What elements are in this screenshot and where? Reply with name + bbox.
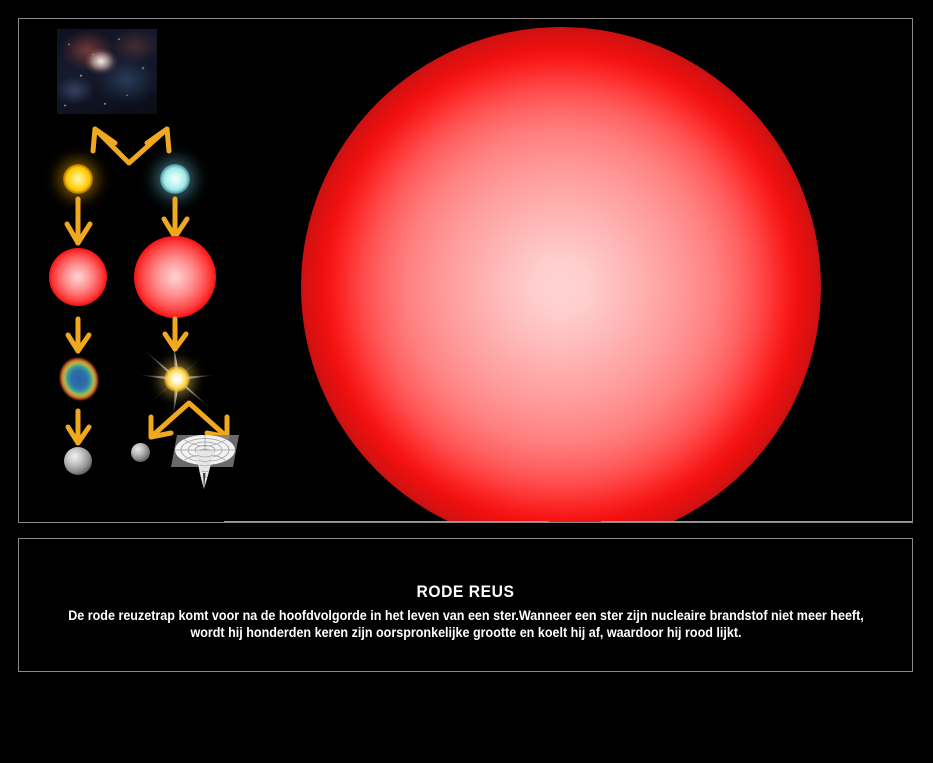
nebula-image <box>57 29 157 114</box>
description-text: De rode reuzetrap komt voor na de hoofdv… <box>61 607 870 642</box>
planetary-nebula-icon <box>48 346 110 412</box>
red-giant-core <box>301 27 821 523</box>
arrow-redgiant-to-planetary-nebula <box>65 317 93 355</box>
gravity-well-icon <box>163 429 247 491</box>
arrow-nebula-to-white-dwarf <box>65 409 93 447</box>
horizon-accent-marker <box>549 521 601 523</box>
red-giant-icon <box>49 248 107 306</box>
app-stage: RODE REUS De rode reuzetrap komt voor na… <box>0 0 933 763</box>
red-giant-featured <box>301 27 821 523</box>
black-hole-icon <box>163 429 247 491</box>
neutron-star-icon <box>131 443 150 462</box>
arrow-blue-to-supergiant <box>162 197 190 241</box>
stellar-evolution-visual <box>18 18 913 523</box>
stellar-lifecycle-flowchart <box>19 19 279 522</box>
blue-star-icon <box>160 164 190 194</box>
description-panel: RODE REUS De rode reuzetrap komt voor na… <box>18 538 913 672</box>
supernova-core-icon <box>164 366 190 392</box>
red-supergiant-icon <box>134 236 216 318</box>
arrow-yellow-to-redgiant <box>65 197 93 247</box>
page-title: RODE REUS <box>55 583 877 602</box>
white-dwarf-icon <box>64 447 92 475</box>
yellow-star-icon <box>63 164 93 194</box>
